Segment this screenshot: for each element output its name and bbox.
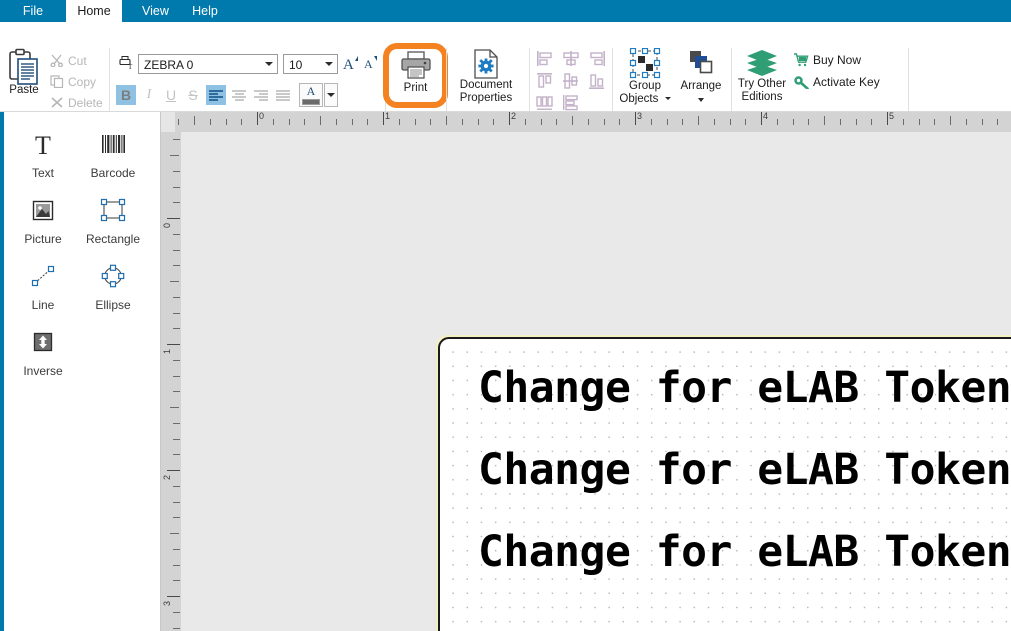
application-window: File Home View Help Paste bbox=[0, 0, 1011, 631]
document-properties-label-line2: Properties bbox=[452, 92, 520, 105]
bold-button[interactable]: B bbox=[116, 85, 136, 105]
tab-file-label: File bbox=[23, 4, 43, 18]
label-canvas[interactable]: Change for eLAB Token Change for eLAB To… bbox=[438, 337, 1011, 631]
align-objects-left-icon[interactable] bbox=[536, 50, 556, 68]
ruler-tick bbox=[997, 119, 998, 125]
ruler-tick bbox=[173, 265, 180, 266]
ruler-tick bbox=[556, 119, 557, 125]
label-text-line-3[interactable]: Change for eLAB Token bbox=[478, 527, 1011, 577]
tab-home[interactable]: Home bbox=[66, 0, 122, 22]
ruler-tick bbox=[840, 119, 841, 125]
ruler-tick bbox=[173, 580, 180, 581]
svg-text:T: T bbox=[128, 63, 133, 70]
tool-ellipse[interactable]: Ellipse bbox=[82, 262, 144, 312]
align-objects-bottom-icon[interactable] bbox=[588, 72, 608, 90]
align-objects-right-icon[interactable] bbox=[588, 50, 608, 68]
ruler-tick bbox=[173, 612, 180, 613]
ruler-tick bbox=[525, 119, 526, 125]
ruler-tick bbox=[367, 119, 368, 125]
ruler-tick bbox=[682, 119, 683, 125]
printer-font-icon: T bbox=[118, 55, 133, 73]
ruler-tick bbox=[257, 112, 258, 125]
ruler-tick bbox=[170, 407, 179, 408]
text-icon: T bbox=[12, 130, 74, 164]
ruler-tick bbox=[173, 486, 180, 487]
ruler-tick bbox=[173, 187, 180, 188]
font-name-dropdown-arrow[interactable] bbox=[260, 55, 277, 73]
tool-label: Text bbox=[12, 166, 74, 180]
tool-label: Inverse bbox=[12, 364, 74, 378]
ruler-tick bbox=[903, 119, 904, 125]
ribbon-separator-1 bbox=[109, 48, 110, 112]
ruler-tick bbox=[430, 119, 431, 125]
ruler-tick bbox=[289, 119, 290, 125]
font-size-value: 10 bbox=[289, 55, 302, 75]
print-button[interactable]: Print bbox=[392, 50, 439, 102]
toolbox-panel: TTextBarcodePictureRectangleLineEllipseI… bbox=[4, 112, 160, 631]
ruler-tick bbox=[241, 119, 242, 125]
ruler-tick bbox=[170, 281, 179, 282]
group-objects-dropdown-arrow[interactable] bbox=[665, 97, 671, 100]
ribbon-separator-3 bbox=[446, 48, 447, 112]
label-document[interactable]: Change for eLAB Token Change for eLAB To… bbox=[436, 335, 1011, 631]
distribute-vertically-icon[interactable] bbox=[562, 94, 582, 112]
try-other-editions-button[interactable]: Try Other Editions bbox=[734, 48, 790, 106]
ruler-tick bbox=[167, 218, 180, 219]
cut-command[interactable]: Cut bbox=[50, 52, 87, 70]
strikethrough-button[interactable]: S bbox=[183, 85, 203, 105]
ruler-tick bbox=[178, 119, 179, 125]
align-left-button[interactable] bbox=[206, 85, 226, 105]
ruler-tick bbox=[604, 119, 605, 125]
ruler-tick bbox=[173, 139, 180, 140]
align-objects-top-icon[interactable] bbox=[536, 72, 556, 90]
ruler-tick bbox=[173, 517, 180, 518]
ruler-tick bbox=[982, 119, 983, 125]
ruler-tick bbox=[887, 112, 888, 125]
ruler-tick bbox=[304, 119, 305, 125]
activate-key-command[interactable]: Activate Key bbox=[793, 73, 880, 91]
picture-icon bbox=[12, 196, 74, 230]
horizontal-ruler[interactable]: 012345 bbox=[175, 112, 1011, 132]
ruler-tick bbox=[777, 119, 778, 125]
ruler-tick bbox=[462, 119, 463, 125]
ruler-tick bbox=[714, 119, 715, 125]
ruler-tick bbox=[572, 116, 573, 125]
ruler-number: 1 bbox=[162, 349, 172, 354]
ruler-tick bbox=[493, 119, 494, 125]
ruler-number: 0 bbox=[162, 223, 172, 228]
ruler-number: 5 bbox=[889, 111, 894, 121]
arrange-button[interactable]: Arrange bbox=[676, 48, 726, 106]
ellipse-icon bbox=[82, 262, 144, 296]
ruler-tick bbox=[808, 119, 809, 125]
ruler-tick bbox=[173, 454, 180, 455]
ruler-tick bbox=[966, 119, 967, 125]
tool-label: Rectangle bbox=[82, 232, 144, 246]
ruler-tick bbox=[919, 119, 920, 125]
tool-barcode[interactable]: Barcode bbox=[82, 130, 144, 180]
ruler-number: 4 bbox=[763, 111, 768, 121]
arrange-dropdown-arrow[interactable] bbox=[676, 93, 726, 106]
design-surface[interactable]: Change for eLAB Token Change for eLAB To… bbox=[181, 132, 1011, 631]
inverse-icon bbox=[12, 328, 74, 362]
cut-label: Cut bbox=[68, 54, 87, 68]
tab-file[interactable]: File bbox=[10, 0, 56, 22]
font-size-combobox[interactable]: 10 bbox=[283, 54, 338, 74]
ruler-tick bbox=[173, 502, 180, 503]
try-other-editions-label-line2: Editions bbox=[734, 91, 790, 104]
ruler-tick bbox=[170, 533, 179, 534]
group-objects-label-line1: Group bbox=[618, 80, 672, 93]
ruler-tick bbox=[399, 119, 400, 125]
tool-inverse[interactable]: Inverse bbox=[12, 328, 74, 378]
ruler-tick bbox=[352, 119, 353, 125]
ribbon: Paste Cut Copy Delete Clipboard bbox=[0, 22, 1011, 112]
ribbon-separator-7 bbox=[908, 48, 909, 112]
ruler-tick bbox=[793, 119, 794, 125]
italic-button[interactable]: I bbox=[139, 85, 159, 105]
ruler-tick bbox=[173, 360, 180, 361]
ruler-tick bbox=[383, 112, 384, 125]
group-objects-label-text: Objects bbox=[619, 93, 658, 105]
ruler-tick bbox=[173, 423, 180, 424]
ruler-tick bbox=[824, 116, 825, 125]
ruler-tick bbox=[856, 119, 857, 125]
vertical-ruler[interactable]: 0123 bbox=[161, 132, 181, 631]
ruler-tick bbox=[173, 328, 180, 329]
ruler-tick bbox=[934, 119, 935, 125]
ruler-tick bbox=[173, 376, 180, 377]
align-objects-center-icon[interactable] bbox=[562, 50, 582, 68]
ruler-number: 3 bbox=[637, 111, 642, 121]
tool-label: Picture bbox=[12, 232, 74, 246]
ribbon-separator-2 bbox=[385, 48, 386, 112]
paste-button-label: Paste bbox=[6, 84, 42, 96]
delete-command[interactable]: Delete bbox=[50, 94, 103, 112]
canvas-area[interactable]: 012345 0123 Change for eLAB Token Change… bbox=[161, 112, 1011, 631]
ruler-tick bbox=[210, 119, 211, 125]
ruler-tick bbox=[273, 119, 274, 125]
ruler-tick bbox=[761, 112, 762, 125]
tab-help[interactable]: Help bbox=[182, 0, 228, 22]
ruler-tick bbox=[173, 628, 180, 629]
ruler-tick bbox=[478, 119, 479, 125]
ruler-tick bbox=[173, 202, 180, 203]
grow-font-icon[interactable]: A bbox=[342, 53, 360, 73]
tab-home-label: Home bbox=[77, 4, 110, 18]
ruler-tick bbox=[619, 119, 620, 125]
font-color-letter: A bbox=[300, 84, 322, 99]
font-size-dropdown-arrow[interactable] bbox=[320, 55, 337, 73]
ruler-tick bbox=[415, 119, 416, 125]
arrange-label: Arrange bbox=[676, 80, 726, 93]
ruler-tick bbox=[446, 116, 447, 125]
print-button-label: Print bbox=[392, 82, 439, 95]
ruler-number: 2 bbox=[162, 475, 172, 480]
copy-command[interactable]: Copy bbox=[50, 73, 96, 91]
ribbon-separator-4 bbox=[529, 48, 530, 112]
group-objects-label-line2: Objects bbox=[618, 93, 672, 106]
activate-key-label: Activate Key bbox=[813, 75, 880, 89]
font-color-button[interactable]: A bbox=[299, 83, 323, 107]
ruler-tick bbox=[173, 297, 180, 298]
ruler-tick bbox=[871, 119, 872, 125]
ruler-tick bbox=[541, 119, 542, 125]
ruler-tick bbox=[336, 119, 337, 125]
ruler-tick bbox=[173, 250, 180, 251]
ruler-tick bbox=[170, 155, 179, 156]
shrink-font-icon[interactable]: A bbox=[362, 53, 380, 73]
ruler-tick bbox=[745, 119, 746, 125]
copy-label: Copy bbox=[68, 75, 96, 89]
ruler-tick bbox=[173, 391, 180, 392]
distribute-horizontally-icon[interactable] bbox=[536, 94, 556, 112]
align-justify-button[interactable] bbox=[273, 85, 293, 105]
svg-text:T: T bbox=[35, 131, 51, 160]
svg-text:A: A bbox=[364, 57, 373, 71]
buy-now-label: Buy Now bbox=[813, 53, 861, 67]
ruler-tick bbox=[173, 313, 180, 314]
ruler-tick bbox=[167, 344, 180, 345]
ruler-tick bbox=[320, 116, 321, 125]
tool-label: Barcode bbox=[82, 166, 144, 180]
tool-label: Ellipse bbox=[82, 298, 144, 312]
line-icon bbox=[12, 262, 74, 296]
document-properties-label-line1: Document bbox=[452, 79, 520, 92]
tab-view-label: View bbox=[142, 4, 169, 18]
label-text-line-1[interactable]: Change for eLAB Token bbox=[478, 363, 1011, 413]
ruler-tick bbox=[698, 116, 699, 125]
align-center-button[interactable] bbox=[229, 85, 249, 105]
tool-text[interactable]: TText bbox=[12, 130, 74, 180]
ruler-tick bbox=[667, 119, 668, 125]
ribbon-separator-6 bbox=[731, 48, 732, 112]
document-properties-button[interactable]: Document Properties bbox=[452, 49, 520, 105]
ruler-tick bbox=[730, 119, 731, 125]
tab-help-label: Help bbox=[192, 4, 218, 18]
ruler-tick bbox=[173, 565, 180, 566]
ruler-tick bbox=[651, 119, 652, 125]
svg-text:A: A bbox=[343, 57, 354, 73]
align-right-button[interactable] bbox=[251, 85, 271, 105]
tab-view[interactable]: View bbox=[132, 0, 178, 22]
group-objects-button[interactable]: Group Objects bbox=[618, 48, 672, 106]
ruler-tick bbox=[173, 171, 180, 172]
try-other-editions-label-line1: Try Other bbox=[734, 78, 790, 91]
font-color-dropdown-arrow[interactable] bbox=[324, 83, 338, 107]
ruler-tick bbox=[226, 119, 227, 125]
ruler-tick bbox=[173, 439, 180, 440]
tool-label: Line bbox=[12, 298, 74, 312]
ruler-tick bbox=[950, 116, 951, 125]
ruler-number: 2 bbox=[511, 111, 516, 121]
ribbon-separator-5 bbox=[612, 48, 613, 112]
ruler-number: 0 bbox=[259, 111, 264, 121]
ruler-tick bbox=[167, 470, 180, 471]
ruler-tick bbox=[509, 112, 510, 125]
font-name-value: ZEBRA 0 bbox=[144, 55, 193, 75]
ruler-tick bbox=[173, 549, 180, 550]
tool-picture[interactable]: Picture bbox=[12, 196, 74, 246]
align-objects-middle-icon[interactable] bbox=[562, 72, 582, 90]
ruler-number: 1 bbox=[385, 111, 390, 121]
underline-button[interactable]: U bbox=[161, 85, 181, 105]
ruler-tick bbox=[167, 596, 180, 597]
delete-label: Delete bbox=[68, 96, 103, 110]
ruler-tick bbox=[194, 116, 195, 125]
ribbon-tab-bar: File Home View Help bbox=[0, 0, 1011, 22]
ruler-tick bbox=[635, 112, 636, 125]
buy-now-command[interactable]: Buy Now bbox=[793, 51, 861, 69]
tool-line[interactable]: Line bbox=[12, 262, 74, 312]
tool-rectangle[interactable]: Rectangle bbox=[82, 196, 144, 246]
rectangle-icon bbox=[82, 196, 144, 230]
ruler-number: 3 bbox=[162, 601, 172, 606]
barcode-icon bbox=[82, 130, 144, 164]
label-text-line-2[interactable]: Change for eLAB Token bbox=[478, 445, 1011, 495]
font-name-combobox[interactable]: ZEBRA 0 bbox=[138, 54, 278, 74]
ruler-tick bbox=[173, 234, 180, 235]
ruler-tick bbox=[588, 119, 589, 125]
font-color-swatch bbox=[302, 99, 320, 105]
